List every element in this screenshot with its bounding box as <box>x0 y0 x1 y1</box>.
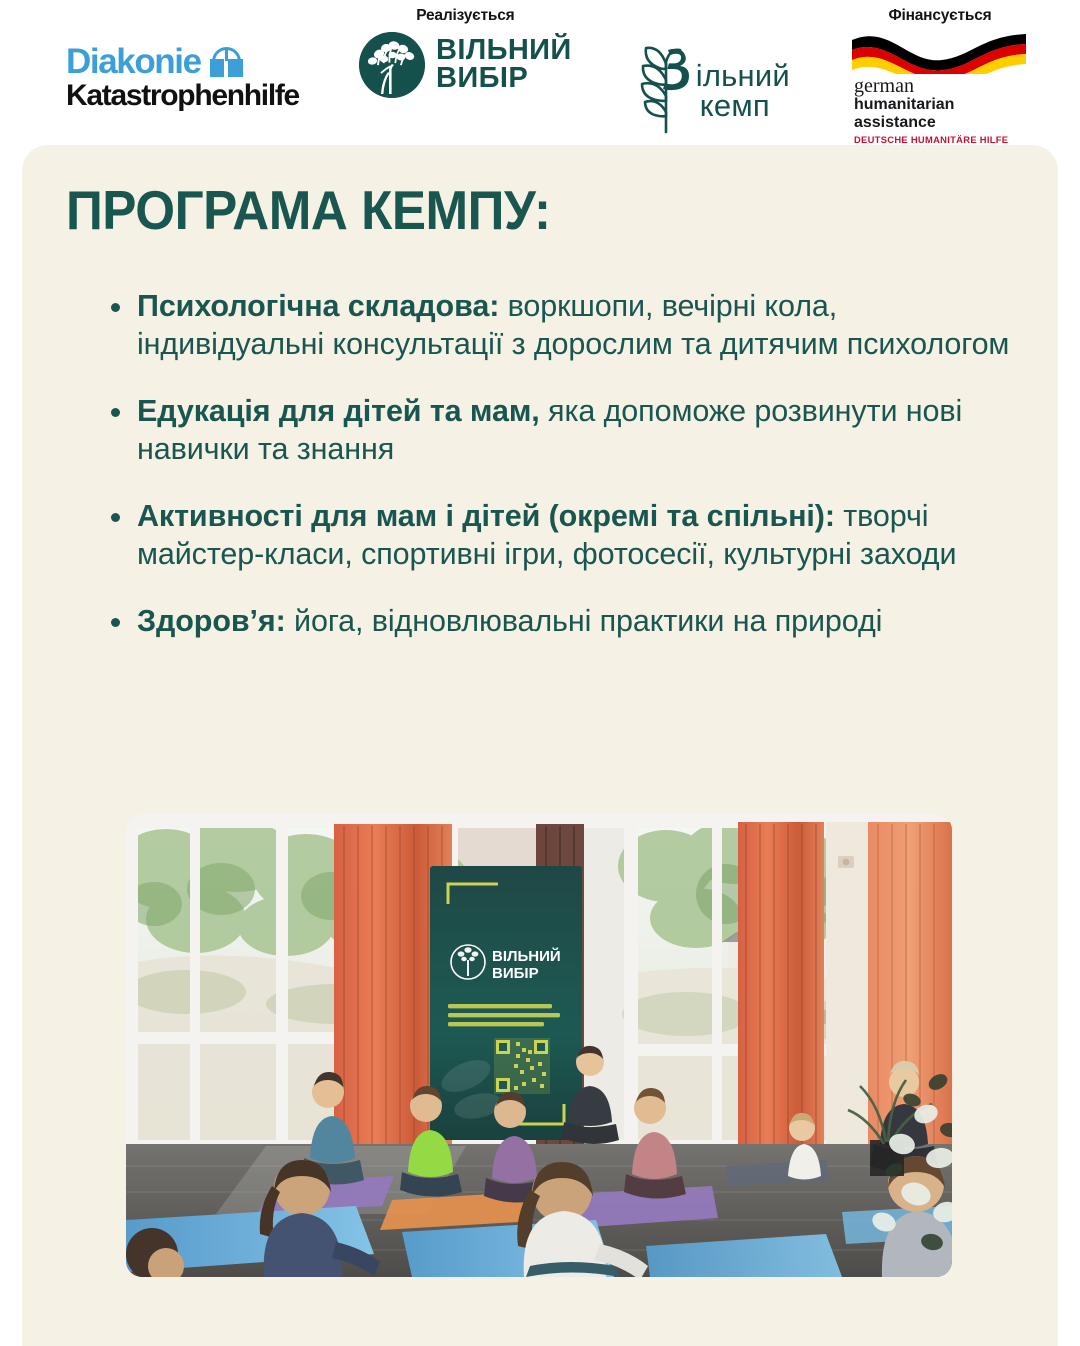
program-list: Психологічна складова: воркшопи, вечірні… <box>84 287 1024 640</box>
diakonie-subtitle: Katastrophenhilfe <box>66 80 299 112</box>
diakonie-wordmark: Diakonie <box>66 44 201 79</box>
leaf-with-b-icon <box>632 40 696 136</box>
bullet-rest: йога, відновлювальні практики на природі <box>286 604 883 638</box>
diakonie-cross-gift-icon <box>210 47 243 77</box>
page-title: ПРОГРАМА КЕМПУ: <box>66 183 551 238</box>
yoga-class-photo: ВІЛЬНИЙ ВИБІР <box>126 814 952 1277</box>
gha-line-assistance: assistance <box>854 114 1008 132</box>
german-flag-wave-icon <box>850 30 1030 74</box>
gha-line-humanitarian: humanitarian <box>854 96 1008 114</box>
bullet-lead: Активності для мам і дітей (окремі та сп… <box>137 499 835 533</box>
bullet-lead: Едукація для дітей та мам, <box>137 394 540 428</box>
logo-vilnyi-kemp: . ільний кемп <box>632 2 790 136</box>
vv-line-2: ВИБІР <box>436 65 572 92</box>
list-item: Психологічна складова: воркшопи, вечірні… <box>84 287 1024 364</box>
vilnyi-vybir-wordmark: ВІЛЬНИЙ ВИБІР <box>436 37 572 92</box>
vv-line-1: ВІЛЬНИЙ <box>436 37 572 64</box>
diakonie-wordmark-row: Diakonie <box>66 44 243 79</box>
gha-text-block: german humanitarian assistance DEUTSCHE … <box>854 76 1008 145</box>
content-card: ПРОГРАМА КЕМПУ: Психологічна складова: в… <box>22 145 1058 1346</box>
tree-hand-icon <box>359 32 425 98</box>
logo-german-humanitarian-assistance: Фінансується german humanitarian assista… <box>850 2 1030 145</box>
vk-line-2: кемп <box>694 91 790 121</box>
vk-line-1: ільний <box>694 61 790 91</box>
logo-bar: Diakonie Katastrophenhilfe Реалізується <box>0 0 1080 145</box>
logo-diakonie-katastrophenhilfe: Diakonie Katastrophenhilfe <box>66 44 299 112</box>
caption-realizovano: Реалізується <box>416 8 514 24</box>
gha-line-german: german <box>854 76 1008 96</box>
bullet-lead: Психологічна складова: <box>137 289 499 323</box>
list-item: Активності для мам і дітей (окремі та сп… <box>84 497 1024 574</box>
vilnyi-kemp-wordmark: ільний кемп <box>694 61 790 121</box>
caption-finansuetsya: Фінансується <box>888 8 991 24</box>
list-item: Здоров’я: йога, відновлювальні практики … <box>84 602 1024 640</box>
list-item: Едукація для дітей та мам, яка допоможе … <box>84 392 1024 469</box>
logo-vilnyi-vybir: Реалізується <box>359 2 572 98</box>
bullet-lead: Здоров’я: <box>137 604 286 638</box>
gha-line-deutsche: DEUTSCHE HUMANITÄRE HILFE <box>854 134 1008 145</box>
